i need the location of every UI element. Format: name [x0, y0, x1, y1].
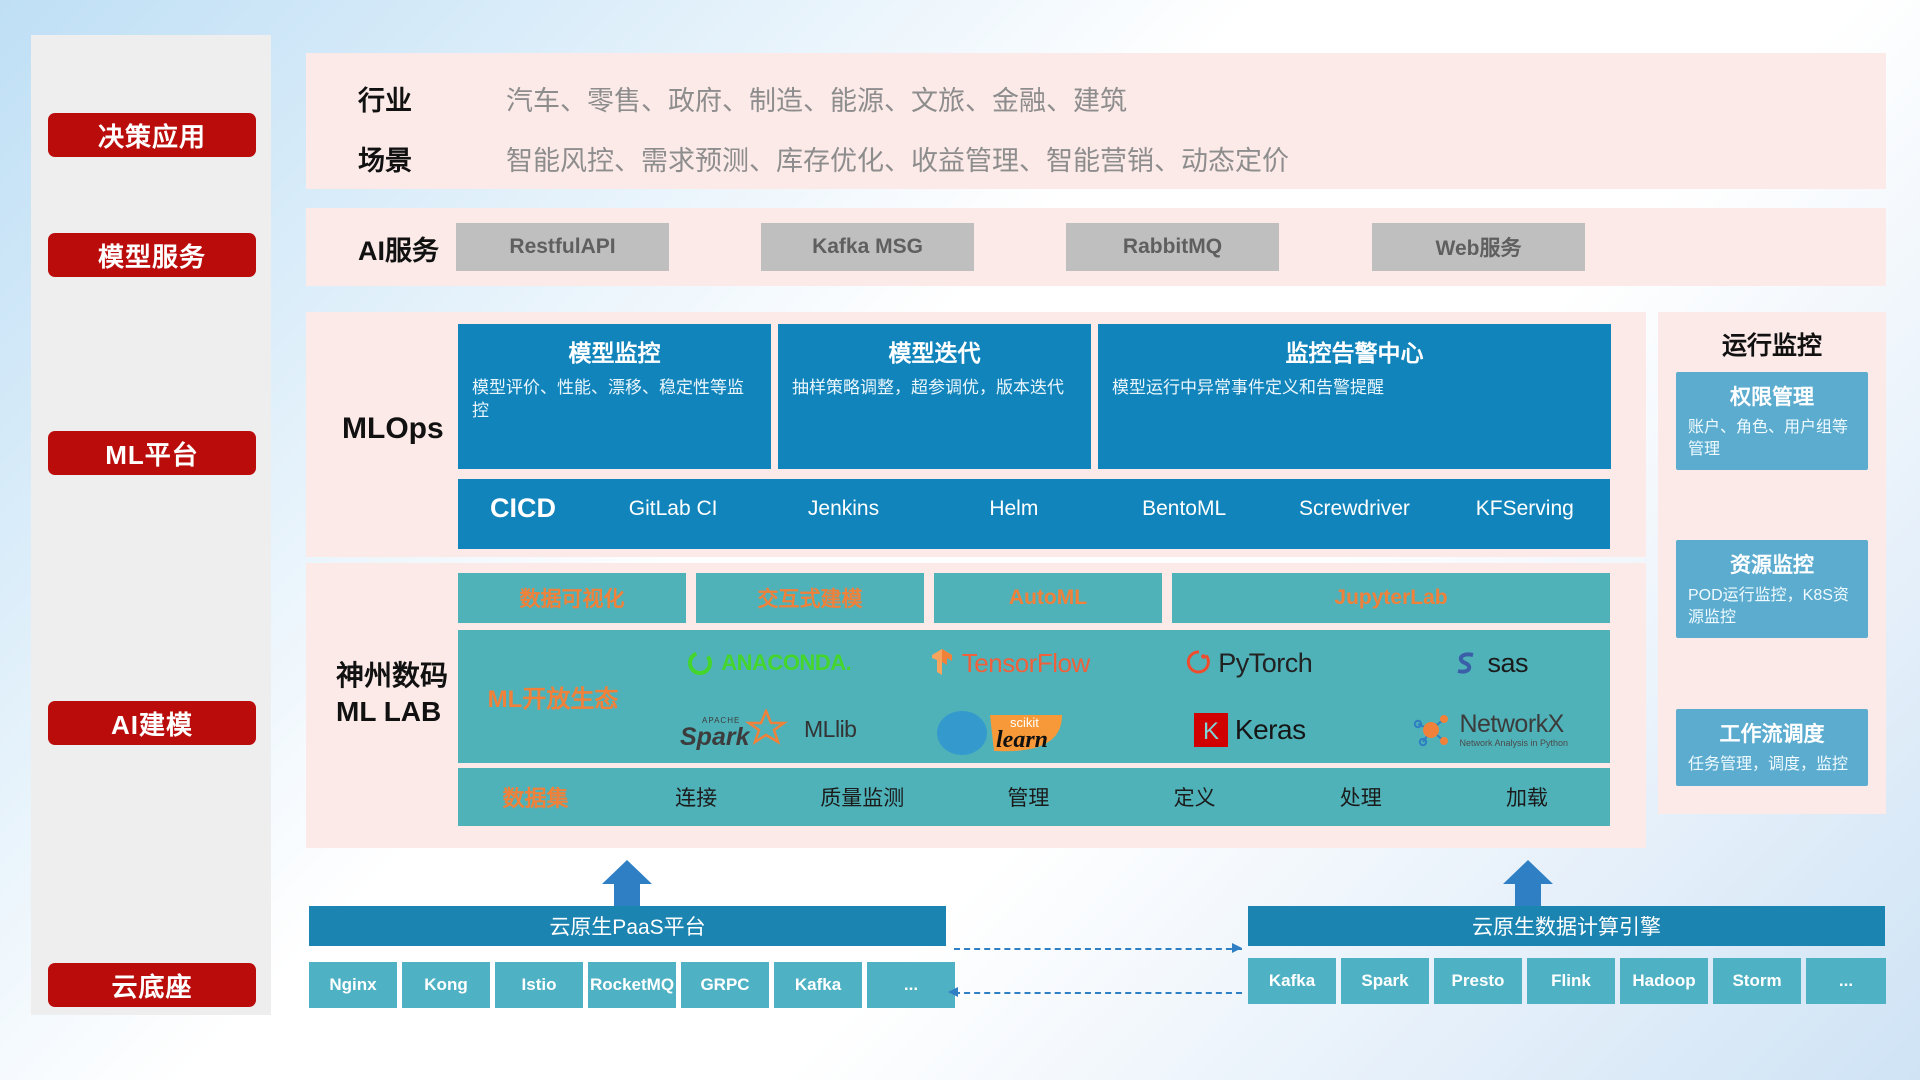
link-arrowheads — [942, 938, 1248, 1004]
ml-ecosystem-label: ML开放生态 — [458, 679, 648, 714]
engine-chip-hadoop[interactable]: Hadoop — [1620, 958, 1708, 1004]
mlops-card-model-monitoring[interactable]: 模型监控 模型评价、性能、漂移、稳定性等监控 — [458, 324, 771, 469]
chip-label: ... — [1839, 972, 1853, 991]
mlops-label: MLOps — [342, 412, 444, 446]
card-body: 任务管理，调度，监控 — [1688, 754, 1856, 776]
paas-chip-kong[interactable]: Kong — [402, 962, 490, 1008]
lab-tab-jupyterlab[interactable]: JupyterLab — [1172, 573, 1610, 623]
dataset-item-define[interactable]: 定义 — [1112, 782, 1278, 812]
run-monitoring-panel: 运行监控 权限管理 账户、角色、用户组等管理 资源监控 POD运行监控，K8S资… — [1658, 312, 1886, 814]
lab-tab-automl[interactable]: AutoML — [934, 573, 1162, 623]
engine-chip-spark[interactable]: Spark — [1341, 958, 1429, 1004]
card-body: 模型运行中异常事件定义和告警提醒 — [1112, 377, 1597, 400]
data-engine-title: 云原生数据计算引擎 — [1472, 911, 1661, 941]
ml-lab-label-line1: 神州数码 — [336, 658, 448, 694]
svg-text:learn: learn — [996, 727, 1048, 753]
svg-text:Spark: Spark — [680, 723, 751, 751]
paas-platform-title: 云原生PaaS平台 — [549, 911, 705, 941]
scenario-value: 智能风控、需求预测、库存优化、收益管理、智能营销、动态定价 — [506, 139, 1289, 178]
paas-chip-rocketmq[interactable]: RocketMQ — [588, 962, 676, 1008]
paas-platform-bar[interactable]: 云原生PaaS平台 — [309, 906, 946, 946]
monitor-card-workflow[interactable]: 工作流调度 任务管理，调度，监控 — [1676, 709, 1868, 786]
keras-wordmark: Keras — [1235, 714, 1306, 746]
sas-mark-icon — [1451, 648, 1481, 678]
upward-arrows — [306, 858, 1886, 908]
sas-wordmark: sas — [1487, 648, 1528, 679]
chip-label: ... — [904, 976, 918, 995]
chip-label: Istio — [522, 976, 557, 995]
layer-chip-ai-modeling[interactable]: AI建模 — [48, 701, 256, 745]
dataset-item-connect[interactable]: 连接 — [613, 782, 779, 812]
cicd-item-helm[interactable]: Helm — [929, 479, 1099, 521]
card-title: 工作流调度 — [1688, 718, 1856, 748]
layer-chip-cloud-base[interactable]: 云底座 — [48, 963, 256, 1007]
card-body: 抽样策略调整，超参调优，版本迭代 — [792, 377, 1077, 400]
anaconda-logo[interactable]: ANACONDA. — [685, 648, 851, 678]
chip-label: Presto — [1452, 972, 1505, 991]
model-service-band: AI服务 RestfulAPI Kafka MSG RabbitMQ Web服务 — [306, 208, 1886, 286]
run-monitoring-title: 运行监控 — [1658, 326, 1886, 362]
spark-mllib-logo[interactable]: APACHE Spark MLlib — [680, 709, 856, 751]
chip-label: Kafka — [795, 976, 841, 995]
industry-label: 行业 — [358, 79, 412, 118]
cicd-item-kfserving[interactable]: KFServing — [1440, 479, 1610, 521]
scikit-learn-logo[interactable]: scikit learn — [934, 705, 1084, 755]
apache-spark-mark-icon: APACHE Spark — [680, 709, 798, 751]
tab-label: JupyterLab — [1334, 586, 1447, 610]
sas-logo[interactable]: sas — [1451, 648, 1528, 679]
dataset-item-process[interactable]: 处理 — [1278, 782, 1444, 812]
svg-text:K: K — [1203, 718, 1219, 745]
tab-label: 交互式建模 — [758, 583, 863, 613]
networkx-graph-icon — [1411, 710, 1453, 750]
engine-chip-presto[interactable]: Presto — [1434, 958, 1522, 1004]
monitor-card-resource[interactable]: 资源监控 POD运行监控，K8S资源监控 — [1676, 540, 1868, 638]
mlops-card-alert-center[interactable]: 监控告警中心 模型运行中异常事件定义和告警提醒 — [1098, 324, 1611, 469]
chip-label: Hadoop — [1632, 972, 1695, 991]
card-title: 监控告警中心 — [1112, 334, 1597, 368]
dataset-bar: 数据集 连接 质量监测 管理 定义 处理 加载 — [458, 768, 1610, 826]
chip-label: Kafka — [1269, 972, 1315, 991]
ai-modeling-band: 神州数码 ML LAB 数据可视化 交互式建模 AutoML JupyterLa… — [306, 563, 1646, 848]
lab-tab-interactive-modeling[interactable]: 交互式建模 — [696, 573, 924, 623]
card-title: 模型监控 — [472, 334, 757, 368]
engine-chip-storm[interactable]: Storm — [1713, 958, 1801, 1004]
engine-chip-more[interactable]: ... — [1806, 958, 1886, 1004]
chip-label: RocketMQ — [590, 976, 674, 995]
tab-label: AutoML — [1009, 586, 1087, 610]
layer-chip-decision-app[interactable]: 决策应用 — [48, 113, 256, 157]
chip-label: GRPC — [700, 976, 749, 995]
tensorflow-mark-icon — [928, 648, 956, 678]
cicd-item-jenkins[interactable]: Jenkins — [758, 479, 928, 521]
card-body: 账户、角色、用户组等管理 — [1688, 417, 1856, 460]
cicd-item-bentoml[interactable]: BentoML — [1099, 479, 1269, 521]
mllib-wordmark: MLlib — [804, 716, 856, 743]
decision-app-band: 行业 汽车、零售、政府、制造、能源、文旅、金融、建筑 场景 智能风控、需求预测、… — [306, 53, 1886, 189]
layer-chip-ml-platform[interactable]: ML平台 — [48, 431, 256, 475]
paas-chip-istio[interactable]: Istio — [495, 962, 583, 1008]
cicd-item-gitlab-ci[interactable]: GitLab CI — [588, 479, 758, 521]
ml-lab-label: 神州数码 ML LAB — [336, 658, 448, 731]
ai-service-item-web-service[interactable]: Web服务 — [1372, 223, 1585, 271]
engine-chip-flink[interactable]: Flink — [1527, 958, 1615, 1004]
mlops-card-model-iteration[interactable]: 模型迭代 抽样策略调整，超参调优，版本迭代 — [778, 324, 1091, 469]
cicd-title: CICD — [458, 479, 588, 524]
chip-label: Nginx — [329, 976, 376, 995]
card-title: 资源监控 — [1688, 549, 1856, 579]
data-engine-bar[interactable]: 云原生数据计算引擎 — [1248, 906, 1885, 946]
cicd-bar: CICD GitLab CI Jenkins Helm BentoML Scre… — [458, 479, 1610, 549]
scikit-learn-mark-icon: scikit learn — [934, 705, 1084, 755]
networkx-wordmark: NetworkX — [1459, 712, 1568, 737]
layer-chip-label: 决策应用 — [98, 117, 206, 154]
industry-value: 汽车、零售、政府、制造、能源、文旅、金融、建筑 — [506, 79, 1127, 118]
chip-label: Storm — [1732, 972, 1781, 991]
mlops-band: MLOps 模型监控 模型评价、性能、漂移、稳定性等监控 模型迭代 抽样策略调整… — [306, 312, 1646, 557]
scenario-label: 场景 — [358, 139, 412, 178]
tensorflow-wordmark: TensorFlow — [962, 648, 1090, 679]
layer-chip-label: 云底座 — [111, 967, 192, 1004]
card-title: 权限管理 — [1688, 381, 1856, 411]
paas-chip-grpc[interactable]: GRPC — [681, 962, 769, 1008]
layer-chip-label: 模型服务 — [98, 237, 206, 274]
chip-label: Spark — [1361, 972, 1408, 991]
card-body: POD运行监控，K8S资源监控 — [1688, 585, 1856, 628]
layer-chip-label: ML平台 — [105, 435, 199, 472]
ai-service-item-restfulapi[interactable]: RestfulAPI — [456, 223, 669, 271]
lab-tab-data-visualization[interactable]: 数据可视化 — [458, 573, 686, 623]
layer-chip-label: AI建模 — [111, 705, 193, 742]
card-body: 模型评价、性能、漂移、稳定性等监控 — [472, 377, 757, 423]
architecture-diagram: 决策应用 模型服务 ML平台 AI建模 云底座 行业 汽车、零售、政府、制造、能… — [0, 0, 1920, 1080]
ai-service-item-rabbitmq[interactable]: RabbitMQ — [1066, 223, 1279, 271]
paas-chip-nginx[interactable]: Nginx — [309, 962, 397, 1008]
dataset-title: 数据集 — [458, 781, 613, 813]
chip-label: Flink — [1551, 972, 1591, 991]
ai-service-item-kafka-msg[interactable]: Kafka MSG — [761, 223, 974, 271]
pytorch-logo[interactable]: PyTorch — [1186, 648, 1312, 679]
anaconda-wordmark: ANACONDA. — [721, 650, 851, 676]
dataset-item-quality-monitor[interactable]: 质量监测 — [779, 782, 945, 812]
ml-ecosystem-strip: ML开放生态 ANACONDA. — [458, 630, 1610, 763]
anaconda-ring-icon — [685, 648, 715, 678]
paas-chip-kafka[interactable]: Kafka — [774, 962, 862, 1008]
keras-logo[interactable]: K Keras — [1193, 712, 1306, 748]
engine-chip-kafka[interactable]: Kafka — [1248, 958, 1336, 1004]
networkx-logo[interactable]: NetworkX Network Analysis in Python — [1411, 710, 1568, 750]
ai-service-label: AI服务 — [358, 229, 439, 268]
dataset-item-manage[interactable]: 管理 — [945, 782, 1111, 812]
ai-service-item-label: Web服务 — [1436, 232, 1522, 262]
layer-label-column: 决策应用 模型服务 ML平台 AI建模 云底座 — [31, 35, 271, 1015]
layer-chip-model-service[interactable]: 模型服务 — [48, 233, 256, 277]
dataset-item-load[interactable]: 加载 — [1444, 782, 1610, 812]
cicd-item-screwdriver[interactable]: Screwdriver — [1269, 479, 1439, 521]
card-title: 模型迭代 — [792, 334, 1077, 368]
tab-label: 数据可视化 — [520, 583, 625, 613]
tensorflow-logo[interactable]: TensorFlow — [928, 648, 1090, 679]
pytorch-wordmark: PyTorch — [1218, 648, 1312, 679]
ai-service-item-label: RestfulAPI — [509, 235, 615, 259]
pytorch-flame-icon — [1186, 649, 1212, 677]
ml-lab-label-line2: ML LAB — [336, 694, 448, 730]
ai-service-item-label: Kafka MSG — [812, 235, 923, 259]
networkx-tagline: Network Analysis in Python — [1459, 739, 1568, 748]
monitor-card-permission[interactable]: 权限管理 账户、角色、用户组等管理 — [1676, 372, 1868, 470]
keras-badge-icon: K — [1193, 712, 1229, 748]
ai-service-item-label: RabbitMQ — [1123, 235, 1222, 259]
chip-label: Kong — [424, 976, 467, 995]
